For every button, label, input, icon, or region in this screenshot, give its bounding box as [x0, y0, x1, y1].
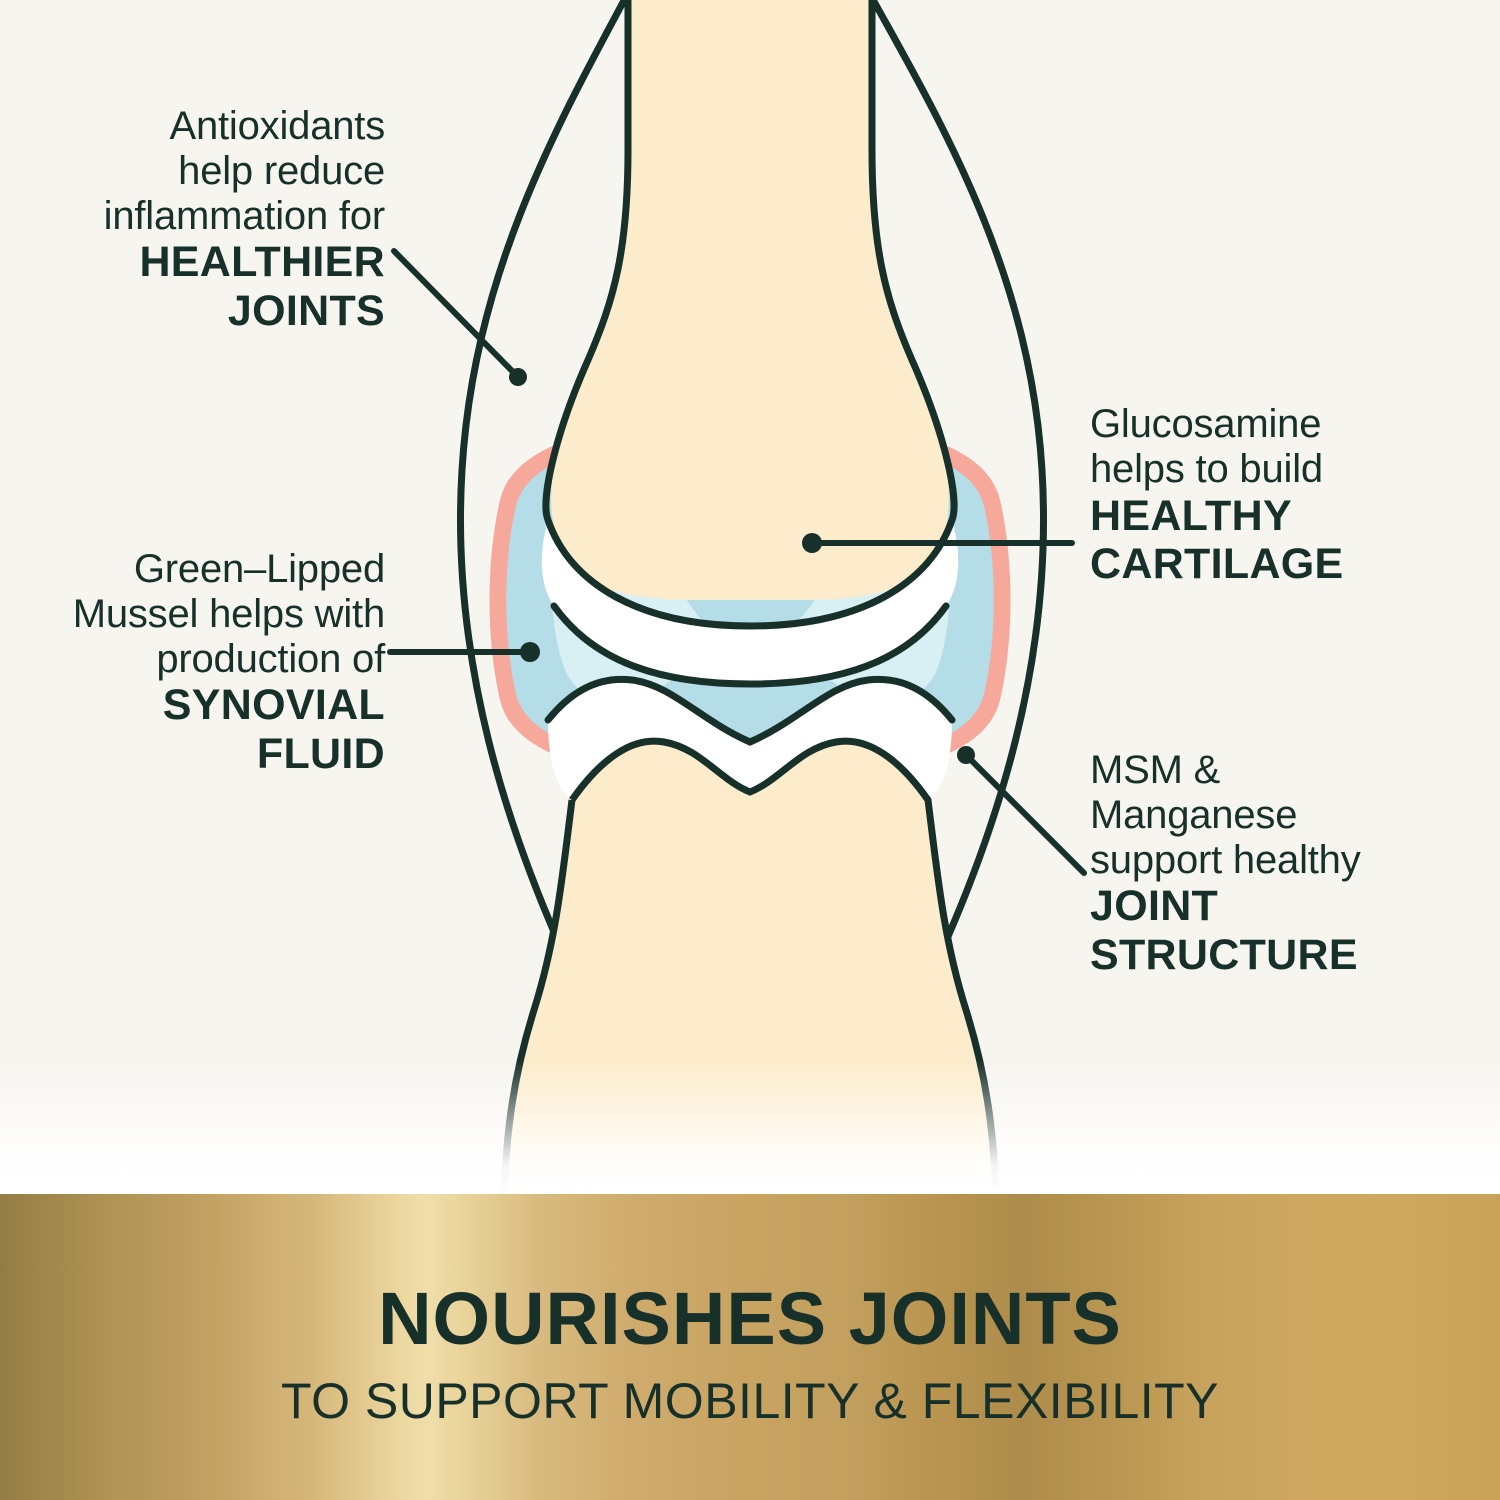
lower-bone [504, 679, 996, 1200]
callout-line: production of [0, 637, 385, 682]
leader-dot-antioxidants [509, 368, 527, 386]
gold-banner: NOURISHES JOINTS TO SUPPORT MOBILITY & F… [0, 1194, 1500, 1500]
callout-glucosamine: Glucosamine helps to build HEALTHY CARTI… [1090, 402, 1490, 588]
callout-green-lipped-mussel: Green–Lipped Mussel helps with productio… [0, 547, 385, 778]
leader-dot-msm [957, 746, 975, 764]
banner-content: NOURISHES JOINTS TO SUPPORT MOBILITY & F… [0, 1194, 1500, 1500]
banner-title: NOURISHES JOINTS [378, 1282, 1122, 1356]
callout-line: Glucosamine [1090, 402, 1490, 447]
callout-line: Antioxidants [20, 104, 385, 149]
callout-antioxidants: Antioxidants help reduce inflammation fo… [20, 104, 385, 335]
callout-line: Manganese [1090, 793, 1490, 838]
callout-bold-line: SYNOVIAL [0, 681, 385, 729]
callout-bold-line: HEALTHY [1090, 492, 1490, 540]
callout-line: support healthy [1090, 838, 1490, 883]
callout-msm-manganese: MSM & Manganese support healthy JOINT ST… [1090, 748, 1490, 979]
leader-dot-glucosamine [802, 533, 822, 553]
callout-bold-line: HEALTHIER [20, 238, 385, 286]
callout-line: helps to build [1090, 447, 1490, 492]
infographic-root: Antioxidants help reduce inflammation fo… [0, 0, 1500, 1500]
callout-bold-line: STRUCTURE [1090, 931, 1490, 979]
upper-bone [542, 0, 959, 684]
callout-line: Mussel helps with [0, 592, 385, 637]
callout-bold-line: JOINTS [20, 287, 385, 335]
callout-line: Green–Lipped [0, 547, 385, 592]
banner-subtitle: TO SUPPORT MOBILITY & FLEXIBILITY [281, 1376, 1219, 1426]
callout-line: inflammation for [20, 194, 385, 239]
callout-bold-line: JOINT [1090, 882, 1490, 930]
callout-bold-line: CARTILAGE [1090, 540, 1490, 588]
callout-line: help reduce [20, 149, 385, 194]
leader-dot-mussel [520, 642, 540, 662]
callout-line: MSM & [1090, 748, 1490, 793]
callout-bold-line: FLUID [0, 730, 385, 778]
